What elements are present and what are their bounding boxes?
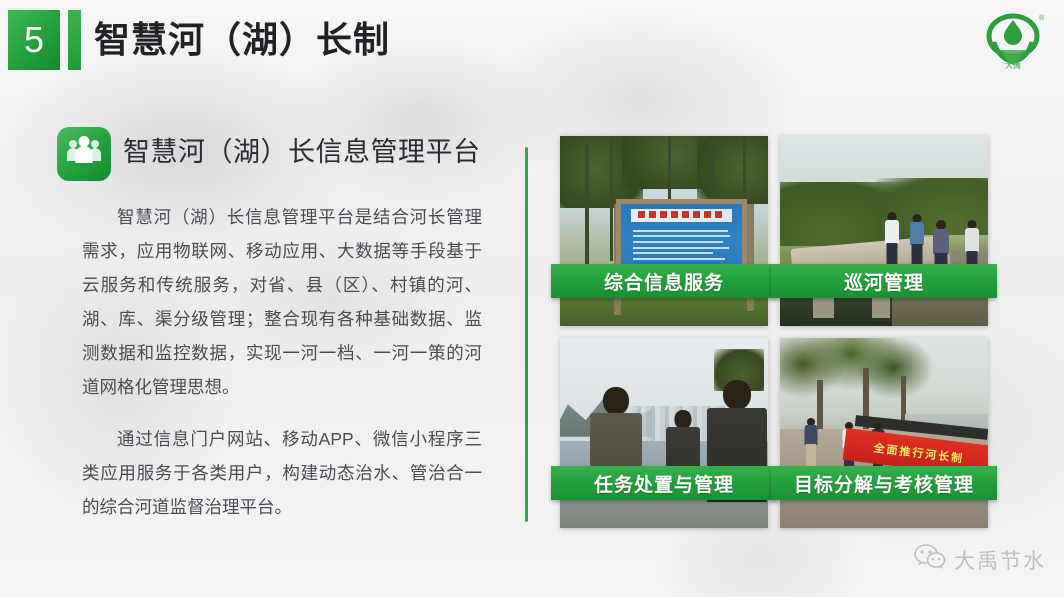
photo-caption: 综合信息服务 [551, 264, 777, 298]
photo-caption: 任务处置与管理 [551, 466, 777, 500]
vertical-divider [525, 147, 528, 522]
wechat-icon [914, 544, 946, 575]
photo-card-comprehensive-info[interactable]: 综合信息服务 [560, 136, 768, 326]
watermark-label: 大禹节水 [954, 545, 1046, 575]
photo-card-goal-assessment[interactable]: 全面推行河长制 目标分解与考核管理 [780, 338, 988, 528]
photo-card-task-management[interactable]: 任务处置与管理 [560, 338, 768, 528]
photo-caption: 巡河管理 [771, 264, 997, 298]
svg-text:®: ® [1039, 14, 1045, 22]
dayu-water-drop-logo: 大禹 ® [976, 8, 1050, 74]
photo-grid: 综合信息服务 [560, 136, 988, 538]
body-paragraph-2: 通过信息门户网站、移动APP、微信小程序三类应用服务于各类用户，构建动态治水、管… [82, 422, 482, 524]
group-people-icon [57, 127, 111, 181]
svg-text:大禹: 大禹 [1005, 60, 1021, 70]
photo-card-river-patrol[interactable]: 巡河管理 [780, 136, 988, 326]
footer-watermark: 大禹节水 [914, 544, 1046, 575]
header-accent-bar [68, 10, 81, 70]
body-paragraph-1: 智慧河（湖）长信息管理平台是结合河长管理需求，应用物联网、移动应用、大数据等手段… [82, 200, 482, 404]
notice-board-title [638, 211, 723, 218]
page-title: 智慧河（湖）长制 [94, 11, 390, 69]
section-number-badge: 5 [8, 10, 60, 70]
photo-caption: 目标分解与考核管理 [771, 466, 997, 500]
section-body-text: 智慧河（湖）长信息管理平台是结合河长管理需求，应用物联网、移动应用、大数据等手段… [82, 200, 482, 524]
section-subtitle: 智慧河（湖）长信息管理平台 [123, 130, 481, 169]
page-header: 5 智慧河（湖）长制 大禹 ® [0, 0, 1064, 88]
